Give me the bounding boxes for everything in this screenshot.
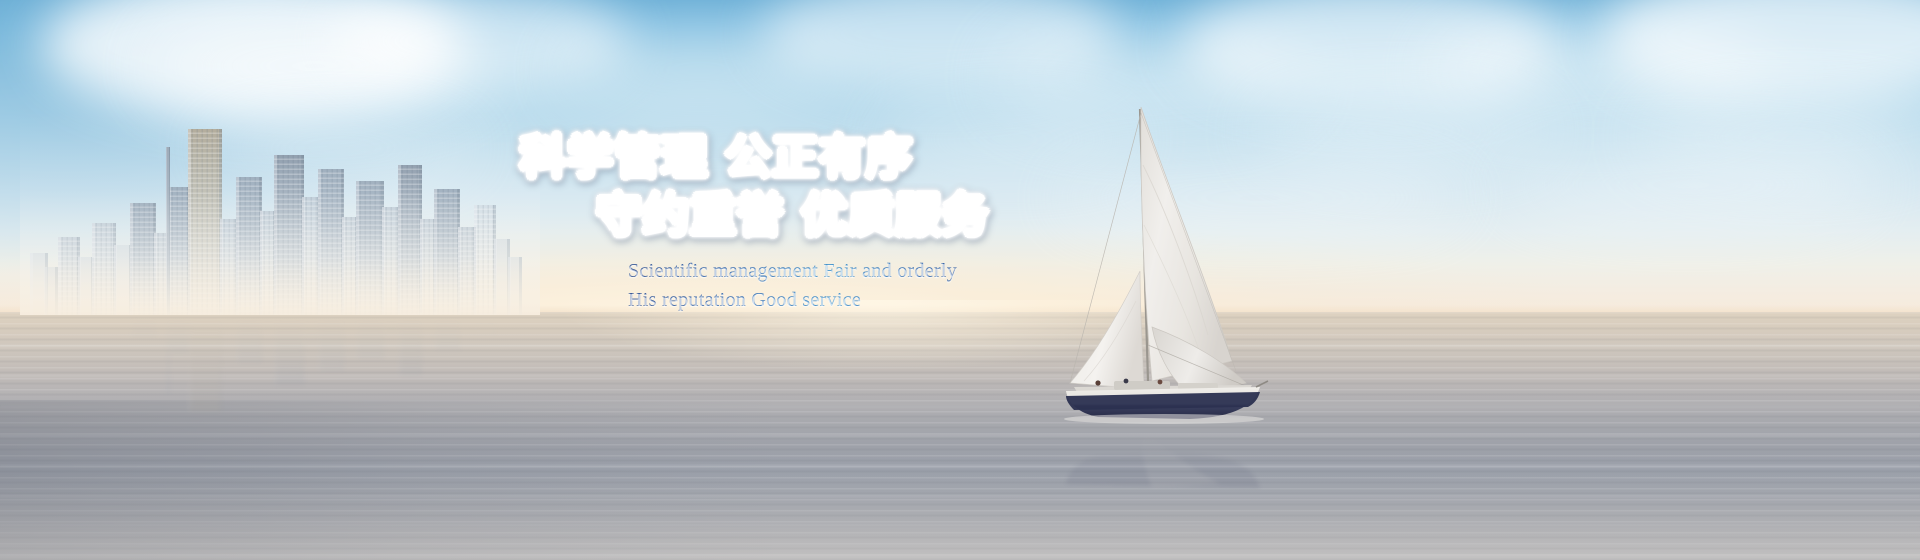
headline-line-2: 守约重誉 优质服务	[596, 186, 1000, 244]
building-4	[92, 223, 116, 315]
headline-line-1: 科学管理 公正有序	[520, 128, 1000, 186]
building-windows	[398, 165, 422, 315]
building-windows	[318, 169, 344, 315]
building-windows	[168, 187, 190, 315]
building-12	[236, 177, 262, 315]
building-10	[188, 129, 222, 315]
building-windows	[474, 205, 496, 315]
city-skyline	[20, 110, 520, 315]
banner-copy: 科学管理 公正有序 守约重誉 优质服务 Scientific managemen…	[520, 128, 1000, 313]
building-2	[58, 237, 80, 315]
building-9	[166, 147, 170, 315]
hero-banner: 科学管理 公正有序 守约重誉 优质服务 Scientific managemen…	[0, 0, 1920, 560]
building-windows	[274, 155, 304, 315]
building-8	[168, 187, 190, 315]
subtitle-block: Scientific management Fair and orderly H…	[628, 258, 1000, 313]
building-22	[434, 189, 460, 315]
building-18	[356, 181, 384, 315]
subtitle-line-1: Scientific management Fair and orderly	[628, 258, 1000, 284]
building-16	[318, 169, 344, 315]
sailboat	[1040, 95, 1270, 425]
ocean-water	[0, 312, 1920, 560]
building-20	[398, 165, 422, 315]
building-windows	[434, 189, 460, 315]
building-windows	[356, 181, 384, 315]
building-windows	[130, 203, 156, 315]
building-windows	[236, 177, 262, 315]
building-windows	[58, 237, 80, 315]
building-14	[274, 155, 304, 315]
building-windows	[188, 129, 222, 315]
subtitle-line-2: His reputation Good service	[628, 287, 1000, 313]
building-24	[474, 205, 496, 315]
building-6	[130, 203, 156, 315]
building-windows	[92, 223, 116, 315]
building-1	[44, 267, 58, 315]
